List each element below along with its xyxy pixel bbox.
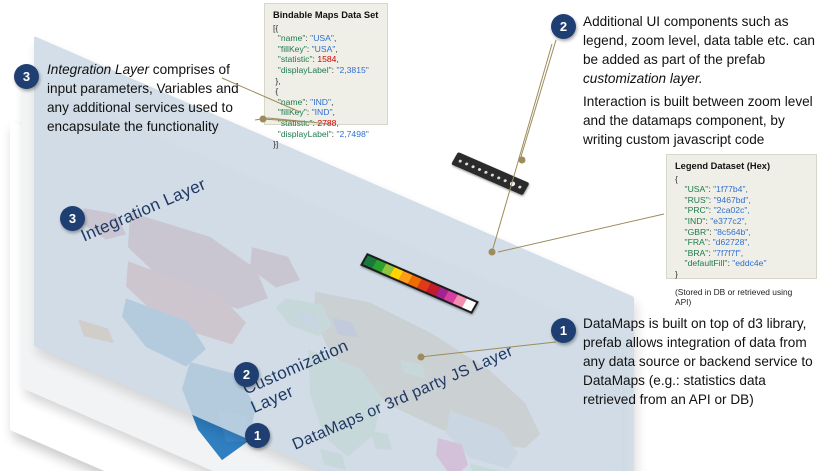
code-line: }, [273, 76, 379, 87]
legend-dataset-title: Legend Dataset (Hex) [675, 161, 808, 172]
callout-text-2: Additional UI components such as legend,… [583, 12, 815, 88]
callout-2-body: Additional UI components such as legend,… [583, 14, 815, 67]
legend-entry: "defaultFill": "eddc4e" [675, 258, 808, 269]
legend-dataset-box: Legend Dataset (Hex) { "USA": "1f77b4", … [666, 154, 817, 279]
legend-entry: "PRC": "2ca02c", [675, 205, 808, 216]
legend-entry: "GBR": "8c564b", [675, 227, 808, 238]
legend-entry-list: "USA": "1f77b4", "RUS": "9467bd", "PRC":… [675, 184, 808, 269]
legend-entry: "USA": "1f77b4", [675, 184, 808, 195]
callout-text-1: DataMaps is built on top of d3 library, … [583, 314, 818, 409]
code-line: [{ [273, 23, 379, 34]
legend-entry-hex: "1f77b4", [713, 184, 748, 194]
zoom-level-slider[interactable] [451, 152, 529, 195]
legend-entry: "IND": "e377c2", [675, 216, 808, 227]
callout-badge-3[interactable]: 3 [14, 64, 39, 89]
callout-badge-2[interactable]: 2 [551, 14, 576, 39]
legend-dataset-note: (Stored in DB or retrieved using API) [675, 287, 808, 307]
legend-entry-hex: "d62728", [713, 237, 750, 247]
code-line: { [273, 86, 379, 97]
code-line: "name": "USA", [273, 33, 379, 44]
callout-text-3: Integration Layer comprises of input par… [47, 60, 262, 136]
code-line: } [675, 269, 808, 280]
slider-tick [490, 173, 494, 177]
legend-entry-hex: "8c564b", [714, 227, 751, 237]
code-line: "name": "IND", [273, 97, 379, 108]
callout-3-emphasis: Integration Layer [47, 62, 149, 77]
code-line: "displayLabel": "2,7498" [273, 129, 379, 140]
slider-tick [484, 170, 488, 174]
slider-tick [465, 162, 469, 166]
layer-badge-1[interactable]: 1 [245, 423, 270, 448]
callout-2-emphasis: customization layer [583, 71, 699, 86]
legend-entry-key: "PRC" [675, 205, 709, 215]
legend-entry-key: "BRA" [675, 248, 708, 258]
statistic-value-ind: 2788 [317, 118, 336, 128]
legend-entry-key: "USA" [675, 184, 708, 194]
legend-entry: "FRA": "d62728", [675, 237, 808, 248]
callout-2-period: . [699, 71, 703, 86]
legend-entry-key: "IND" [675, 216, 705, 226]
code-line: }] [273, 139, 379, 150]
slider-handle[interactable] [509, 180, 516, 186]
code-line: "statistic": 2788, [273, 118, 379, 129]
legend-entry-hex: "7f7f7f", [713, 248, 743, 258]
legend-entry-key: "defaultFill" [675, 258, 727, 268]
slider-tick [497, 176, 501, 180]
layer-badge-3[interactable]: 3 [60, 206, 85, 231]
legend-entry-hex: "eddc4e" [732, 258, 766, 268]
legend-entry: "BRA": "7f7f7f", [675, 248, 808, 259]
legend-entry-hex: "2ca02c", [714, 205, 750, 215]
code-line: "statistic": 1584, [273, 54, 379, 65]
code-line: "displayLabel": "2,3815" [273, 65, 379, 76]
code-line: "fillKey": "USA", [273, 44, 379, 55]
bindable-dataset-title: Bindable Maps Data Set [273, 10, 379, 21]
slider-tick [518, 185, 522, 189]
callout-badge-1[interactable]: 1 [551, 318, 576, 343]
legend-entry-hex: "e377c2", [710, 216, 747, 226]
legend-entry-key: "RUS" [675, 195, 709, 205]
statistic-value-usa: 1584 [317, 54, 336, 64]
slider-tick [471, 164, 475, 168]
legend-entry: "RUS": "9467bd", [675, 195, 808, 206]
layer-badge-2[interactable]: 2 [234, 362, 259, 387]
bindable-dataset-box: Bindable Maps Data Set [{ "name": "USA",… [264, 3, 388, 125]
slider-tick [503, 178, 507, 182]
legend-entry-key: "GBR" [675, 227, 709, 237]
legend-entry-key: "FRA" [675, 237, 708, 247]
code-line: "fillKey": "IND", [273, 107, 379, 118]
slider-tick [458, 159, 462, 163]
code-line: { [675, 174, 808, 185]
diagram-canvas: Integration Layer Customization Layer Da… [0, 0, 820, 471]
slider-tick [478, 167, 482, 171]
legend-entry-hex: "9467bd", [714, 195, 751, 205]
callout-text-2-secondary: Interaction is built between zoom level … [583, 92, 815, 149]
